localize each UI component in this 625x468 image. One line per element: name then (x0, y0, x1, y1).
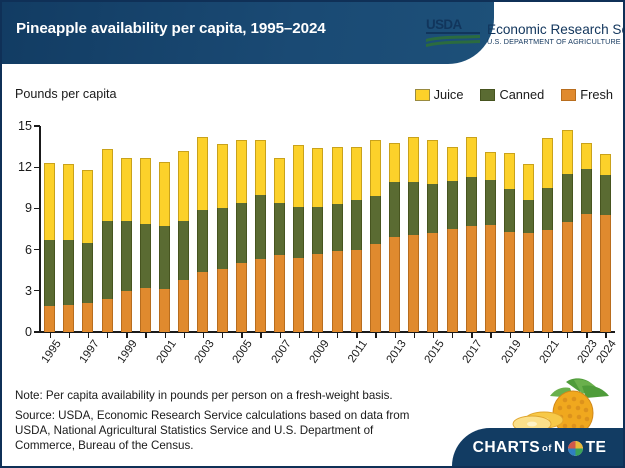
y-axis-tick-label: 15 (10, 119, 32, 133)
brand-note-pre: N (554, 439, 566, 457)
bar-segment-canned (274, 203, 285, 255)
bar-stack[interactable] (293, 145, 304, 332)
y-axis-tick-label: 12 (10, 160, 32, 174)
charts-of-note-banner: CHARTS of N TE (452, 428, 625, 468)
agency-name: Economic Research Service (487, 22, 625, 37)
bar-segment-fresh (370, 244, 381, 332)
y-axis-tick-label: 9 (10, 201, 32, 215)
x-axis-tick (529, 332, 530, 338)
bar-segment-canned (332, 204, 343, 251)
x-axis-tick (203, 332, 204, 338)
x-axis-tick (375, 332, 376, 338)
bar-segment-canned (562, 174, 573, 222)
bar-stack[interactable] (255, 140, 266, 332)
x-axis-tick (165, 332, 166, 338)
bar-segment-fresh (293, 258, 304, 332)
bar-segment-juice (408, 137, 419, 182)
bar-segment-juice (217, 144, 228, 209)
bar-segment-juice (140, 158, 151, 224)
bar-segment-juice (197, 137, 208, 210)
bar-segment-fresh (466, 226, 477, 332)
bar-segment-canned (140, 224, 151, 289)
x-axis-tick-label: 2017 (450, 338, 485, 381)
bar-segment-canned (485, 180, 496, 225)
bar-segment-fresh (82, 303, 93, 332)
bar-stack[interactable] (351, 147, 362, 332)
legend-item-canned[interactable]: Canned (480, 87, 544, 102)
bar-segment-juice (63, 164, 74, 240)
legend-swatch-juice (415, 89, 430, 101)
x-axis-tick-label: 2011 (335, 338, 370, 381)
chart-source: Source: USDA, Economic Research Service … (15, 408, 435, 453)
bar-segment-juice (504, 153, 515, 189)
bar-segment-canned (542, 188, 553, 231)
bar-segment-canned (178, 221, 189, 280)
bar-segment-juice (523, 164, 534, 200)
x-axis-tick (145, 332, 146, 338)
bar-stack[interactable] (178, 151, 189, 332)
y-axis-line (39, 126, 41, 332)
bar-segment-canned (312, 207, 323, 254)
x-axis-tick-label: 2021 (527, 338, 562, 381)
bar-segment-fresh (312, 254, 323, 332)
bar-stack[interactable] (370, 140, 381, 332)
y-axis-tick-label: 3 (10, 284, 32, 298)
x-axis-tick (280, 332, 281, 338)
x-axis-tick (260, 332, 261, 338)
y-axis-title: Pounds per capita (15, 87, 117, 101)
bar-segment-juice (389, 143, 400, 183)
x-axis-tick-label: 2007 (258, 338, 293, 381)
bar-segment-juice (236, 140, 247, 203)
usda-swoosh-icon (426, 35, 480, 49)
brand-pie-icon (568, 441, 583, 456)
bar-segment-fresh (274, 255, 285, 332)
x-axis-tick (452, 332, 453, 338)
bar-stack[interactable] (447, 147, 458, 332)
x-axis-tick (471, 332, 472, 338)
bar-stack[interactable] (485, 152, 496, 332)
x-axis-tick (107, 332, 108, 338)
x-axis-tick-label: 2003 (182, 338, 217, 381)
bar-segment-juice (121, 158, 132, 221)
legend-label-fresh: Fresh (580, 87, 613, 102)
bar-segment-fresh (600, 215, 611, 332)
usda-logo: USDA Economic Research Service U.S. DEPA… (426, 18, 625, 50)
bar-segment-fresh (332, 251, 343, 332)
bar-segment-canned (351, 200, 362, 249)
x-axis-tick (222, 332, 223, 338)
plot-area: 03691215 1995199719992001200320052007200… (40, 126, 615, 332)
legend-swatch-canned (480, 89, 495, 101)
legend-swatch-fresh (561, 89, 576, 101)
x-axis-tick (356, 332, 357, 338)
bar-segment-juice (542, 138, 553, 187)
x-axis-tick (318, 332, 319, 338)
x-axis-tick (605, 332, 606, 338)
bar-stack[interactable] (427, 140, 438, 332)
bar-segment-fresh (581, 214, 592, 332)
x-axis-tick (184, 332, 185, 338)
bar-segment-fresh (197, 272, 208, 332)
bar-segment-canned (581, 169, 592, 214)
bar-segment-fresh (140, 288, 151, 332)
bar-segment-juice (82, 170, 93, 243)
bar-segment-canned (447, 181, 458, 229)
bar-stack[interactable] (236, 140, 247, 332)
legend-item-juice[interactable]: Juice (415, 87, 464, 102)
x-axis-tick-label: 2013 (373, 338, 408, 381)
bar-segment-fresh (178, 280, 189, 332)
x-axis-tick (548, 332, 549, 338)
x-axis-tick (88, 332, 89, 338)
bar-segment-juice (581, 143, 592, 169)
bar-segment-juice (332, 147, 343, 205)
bar-segment-juice (159, 162, 170, 227)
x-axis-tick-label: 2001 (143, 338, 178, 381)
bar-segment-juice (293, 145, 304, 207)
bar-stack[interactable] (466, 137, 477, 332)
agency-subtitle: U.S. DEPARTMENT OF AGRICULTURE (487, 37, 625, 47)
x-axis-tick (50, 332, 51, 338)
bar-stack[interactable] (389, 143, 400, 332)
chart-page: Pineapple availability per capita, 1995–… (0, 0, 625, 468)
bar-segment-juice (351, 147, 362, 201)
bar-segment-canned (389, 182, 400, 237)
bar-segment-fresh (159, 289, 170, 332)
charts-of-note-text: CHARTS of N TE (473, 439, 607, 457)
bar-segment-canned (408, 182, 419, 234)
bar-segment-juice (44, 163, 55, 240)
x-axis-tick (241, 332, 242, 338)
bar-segment-juice (485, 152, 496, 179)
chart-note: Note: Per capita availability in pounds … (15, 388, 393, 403)
bar-stack[interactable] (523, 164, 534, 332)
x-axis-tick (490, 332, 491, 338)
bar-segment-fresh (389, 237, 400, 332)
x-axis-tick-label: 1997 (67, 338, 102, 381)
bar-segment-juice (466, 137, 477, 177)
y-axis-tick (34, 167, 40, 168)
bar-segment-fresh (63, 305, 74, 332)
bar-segment-juice (427, 140, 438, 184)
bar-segment-juice (600, 154, 611, 176)
usda-wordmark: USDA (426, 18, 480, 31)
bar-segment-fresh (447, 229, 458, 332)
x-axis-tick-label: 2019 (488, 338, 523, 381)
bar-segment-fresh (44, 306, 55, 332)
bar-segment-fresh (351, 250, 362, 332)
x-axis-tick (510, 332, 511, 338)
brand-charts: CHARTS (473, 439, 540, 457)
bar-segment-fresh (217, 269, 228, 332)
x-axis-tick (69, 332, 70, 338)
x-axis-tick-label: 2015 (412, 338, 447, 381)
bar-segment-canned (121, 221, 132, 291)
bar-segment-fresh (562, 222, 573, 332)
chart-container: Pounds per capita Juice Canned Fresh 036… (2, 64, 625, 382)
bar-stack[interactable] (562, 130, 573, 332)
usda-agency-text: Economic Research Service U.S. DEPARTMEN… (487, 22, 625, 47)
y-axis-tick-label: 0 (10, 325, 32, 339)
y-axis-tick (34, 331, 40, 332)
x-axis-tick-label: 2005 (220, 338, 255, 381)
bar-stack[interactable] (44, 163, 55, 332)
page-title: Pineapple availability per capita, 1995–… (16, 20, 326, 37)
bar-segment-fresh (255, 259, 266, 332)
bar-stack[interactable] (140, 158, 151, 332)
brand-of: of (542, 443, 552, 454)
bar-segment-canned (63, 240, 74, 305)
bar-segment-canned (102, 221, 113, 299)
bar-segment-canned (600, 175, 611, 215)
y-axis-tick-label: 6 (10, 243, 32, 257)
bar-stack[interactable] (121, 158, 132, 332)
legend-item-fresh[interactable]: Fresh (561, 87, 613, 102)
x-axis-tick (395, 332, 396, 338)
x-axis-tick-label: 1999 (105, 338, 140, 381)
y-axis-tick (34, 208, 40, 209)
bar-segment-juice (370, 140, 381, 196)
bar-segment-juice (255, 140, 266, 195)
bar-segment-canned (236, 203, 247, 263)
bar-segment-canned (370, 196, 381, 244)
bar-stack[interactable] (581, 143, 592, 332)
y-axis-tick (34, 249, 40, 250)
bar-segment-juice (312, 148, 323, 207)
bar-segment-juice (178, 151, 189, 221)
bar-stack[interactable] (332, 147, 343, 332)
bar-segment-canned (293, 207, 304, 258)
x-axis-tick (567, 332, 568, 338)
chart-legend: Juice Canned Fresh (415, 87, 613, 102)
y-axis-tick (34, 290, 40, 291)
bar-segment-canned (82, 243, 93, 303)
x-axis-tick (414, 332, 415, 338)
bar-stack[interactable] (542, 138, 553, 332)
bar-segment-fresh (121, 291, 132, 332)
bar-stack[interactable] (408, 137, 419, 332)
bar-segment-fresh (236, 263, 247, 332)
bar-stack[interactable] (504, 153, 515, 332)
bar-segment-canned (217, 208, 228, 268)
page-header: Pineapple availability per capita, 1995–… (2, 2, 625, 64)
bar-segment-canned (159, 226, 170, 289)
y-axis-tick (34, 125, 40, 126)
bar-segment-fresh (485, 225, 496, 332)
bar-segment-fresh (523, 233, 534, 332)
bar-segment-juice (102, 149, 113, 220)
bar-segment-juice (447, 147, 458, 181)
bar-segment-canned (255, 195, 266, 260)
bar-segment-juice (562, 130, 573, 174)
bar-stack[interactable] (102, 149, 113, 332)
legend-label-juice: Juice (434, 87, 464, 102)
bar-segment-fresh (427, 233, 438, 332)
bar-segment-canned (427, 184, 438, 233)
legend-label-canned: Canned (499, 87, 544, 102)
bar-segment-fresh (542, 230, 553, 332)
bar-segment-canned (466, 177, 477, 226)
usda-seal-icon: USDA (426, 18, 480, 50)
bar-segment-canned (504, 189, 515, 232)
bar-stack[interactable] (82, 170, 93, 332)
x-axis-tick (586, 332, 587, 338)
bar-segment-canned (197, 210, 208, 272)
bar-stack[interactable] (63, 164, 74, 332)
bar-stack[interactable] (600, 154, 611, 333)
x-axis-tick-label: 1995 (28, 338, 63, 381)
x-axis-tick (126, 332, 127, 338)
bar-segment-canned (523, 200, 534, 233)
brand-note-post: TE (586, 439, 607, 457)
bar-stack[interactable] (197, 137, 208, 332)
page-footer: Note: Per capita availability in pounds … (2, 382, 625, 468)
bar-stack[interactable] (312, 148, 323, 332)
bar-stack[interactable] (159, 162, 170, 332)
bar-segment-juice (274, 158, 285, 203)
x-axis-tick (299, 332, 300, 338)
bar-segment-fresh (102, 299, 113, 332)
x-axis-tick-label: 2009 (297, 338, 332, 381)
bar-segment-fresh (504, 232, 515, 332)
x-axis-tick (337, 332, 338, 338)
x-axis-tick (433, 332, 434, 338)
usda-rule (426, 32, 480, 34)
bar-stack[interactable] (217, 144, 228, 332)
bar-stack[interactable] (274, 158, 285, 332)
bar-segment-canned (44, 240, 55, 306)
bar-segment-fresh (408, 235, 419, 333)
